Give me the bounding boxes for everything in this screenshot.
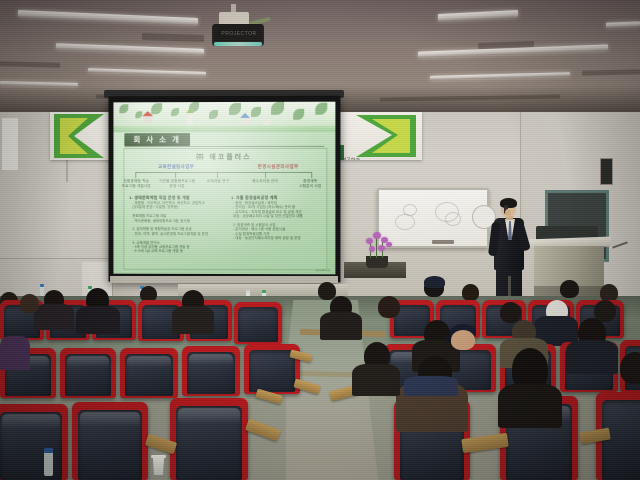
water-bottle [40,286,44,296]
projector-glare [113,102,335,275]
whiteboard-marker-tray [432,240,454,244]
seat-back-pad [602,400,640,480]
banner-chevron-right-icon [330,115,416,157]
seat-back-pad [249,350,295,392]
audience-body [320,312,362,340]
audience-body [76,306,120,334]
audience-head [451,330,475,350]
screen-bottom-bar [110,276,338,283]
projector-label: PROJECTOR [218,30,260,38]
wall-fixture [600,158,613,185]
wall-seam [0,258,112,259]
orchid-bloom [373,232,381,239]
speaker-hair [500,198,517,208]
bottle-cap [44,448,53,453]
audience-body [34,304,74,330]
paper-cup [152,456,165,475]
orchid-bloom [366,238,373,244]
seat-highlight [80,412,140,427]
speaker-hand [505,209,511,216]
seat-highlight [178,408,240,424]
audience-head [560,280,579,298]
orchid-bloom [386,242,392,247]
bottle-cap [246,290,250,293]
audience-head [378,296,400,318]
baseball-cap-icon [424,276,445,288]
audience-body [0,336,30,370]
audience-shoulder [404,376,458,396]
audience-head [500,302,521,323]
audience-body [172,306,214,334]
water-bottle [44,452,53,476]
orchid-bloom [369,246,375,252]
audience-body [566,340,618,374]
whiteboard-marking [403,204,417,216]
seat-highlight [2,414,60,429]
lecture-hall-photo: PROJECTOR 200 우수취업 일시 2009. 수회 개선 학토론 학교… [0,0,640,480]
audience-head [620,352,640,384]
bottle-cap [262,290,266,293]
whiteboard-marking [445,212,461,226]
seat-back-pad [238,307,278,342]
orchid-stem [376,236,377,258]
audience-body [352,364,400,396]
presentation-slide: 회 사 소 개 ㈜ 에코플러스 교육컨설팅사업부 환경시설관리사업부 친환경체험… [113,102,335,275]
audience-head [462,284,479,301]
audience-head [20,294,39,313]
orchid-bloom [378,245,385,251]
whiteboard-marking [395,214,415,230]
wall-poster [2,118,18,170]
seat-highlight [67,356,109,367]
projection-screen: 회 사 소 개 ㈜ 에코플러스 교육컨설팅사업부 환경시설관리사업부 친환경체험… [108,96,340,283]
audience-body [498,384,562,428]
seat-highlight [127,356,171,367]
bottle-cap [40,284,44,287]
projector-lens-strip [214,42,262,46]
seat-highlight [189,354,233,365]
